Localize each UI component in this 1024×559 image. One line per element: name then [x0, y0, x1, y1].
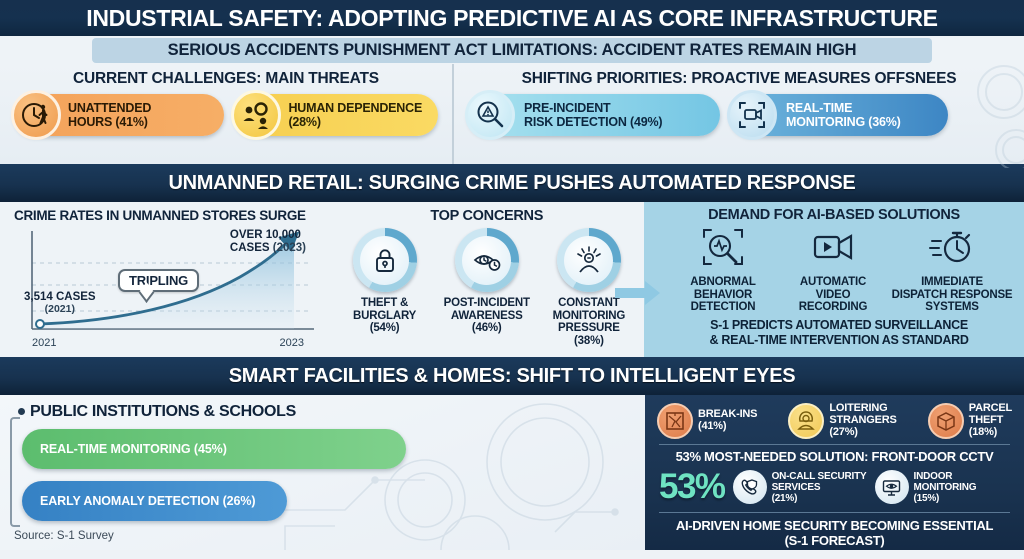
- demand2-l1: AUTOMATIC: [778, 276, 888, 289]
- concern1-l2: BURGLARY: [337, 310, 433, 323]
- demand2-l3: RECORDING: [778, 301, 888, 314]
- demand1-l2: BEHAVIOR: [668, 289, 778, 302]
- demand2-label: AUTOMATIC VIDEO RECORDING: [778, 276, 888, 314]
- sub-solution-indoor-monitoring[interactable]: INDOOR MONITORING (15%): [875, 470, 977, 504]
- priority1-line2: RISK DETECTION (49%): [524, 115, 662, 129]
- threat-label-line1: UNATTENDED: [68, 101, 151, 115]
- demand-foot-line1: S-1 PREDICTS AUTOMATED SURVEILLANCE: [660, 318, 1018, 333]
- public-institutions-heading-text: PUBLIC INSTITUTIONS & SCHOOLS: [30, 403, 296, 420]
- infographic-page: INDUSTRIAL SAFETY: ADOPTING PREDICTIVE A…: [0, 0, 1024, 559]
- sub2-l2: MONITORING: [914, 482, 977, 493]
- broken-window-icon: [657, 403, 693, 439]
- lock-icon: [360, 236, 409, 285]
- divider: [659, 444, 1010, 445]
- eye-clock-icon: [462, 236, 511, 285]
- priority1-label: PRE-INCIDENT RISK DETECTION (49%): [524, 101, 662, 129]
- bar-blue-label: EARLY ANOMALY DETECTION (26%): [40, 494, 255, 508]
- demand1-label: ABNORMAL BEHAVIOR DETECTION: [668, 276, 778, 314]
- challenges-column: CURRENT CHALLENGES: MAIN THREATS UNATTEN…: [0, 64, 452, 164]
- concern2-l1: POST-INCIDENT: [439, 297, 535, 310]
- sub1-l2: SERVICES: [772, 482, 867, 493]
- concern1-l3: (54%): [337, 322, 433, 335]
- threat-human-dependence-label: HUMAN DEPENDENCE (28%): [288, 101, 422, 129]
- concern-awareness-label: POST-INCIDENT AWARENESS (46%): [439, 297, 535, 335]
- demand-automatic-video-recording[interactable]: AUTOMATIC VIDEO RECORDING: [778, 225, 888, 314]
- demand1-l3: DETECTION: [668, 301, 778, 314]
- demand-foot-line2: & REAL-TIME INTERVENTION AS STANDARD: [660, 333, 1018, 348]
- crime-rate-chart-panel: CRIME RATES IN UNMANNED STORES SURGE: [0, 202, 330, 357]
- home-threat1-label: BREAK-INS (41%): [698, 409, 757, 433]
- priority-pre-incident-risk-detection[interactable]: PRE-INCIDENT RISK DETECTION (49%): [468, 94, 720, 136]
- concern-post-incident-awareness[interactable]: POST-INCIDENT AWARENESS (46%): [439, 228, 535, 348]
- home-security-panel: BREAK-INS (41%) LOITERING STRA: [645, 395, 1024, 550]
- concern-theft-label: THEFT & BURGLARY (54%): [337, 297, 433, 335]
- top-concerns-panel: TOP CONCERNS T: [330, 202, 645, 357]
- chart-tick-left: 2021: [32, 337, 56, 349]
- threat-label-line2: HOURS (41%): [68, 115, 151, 129]
- hooded-person-icon: [788, 403, 824, 439]
- threat2-label-line1: HUMAN DEPENDENCE: [288, 101, 422, 115]
- priority2-label: REAL-TIME MONITORING (36%): [786, 101, 901, 129]
- demand3-l3: SYSTEMS: [888, 301, 1016, 314]
- chart-end-label: OVER 10,000 CASES (2023): [230, 229, 306, 255]
- concern-theft-burglary[interactable]: THEFT & BURGLARY (54%): [337, 228, 433, 348]
- page-title-text: INDUSTRIAL SAFETY: ADOPTING PREDICTIVE A…: [86, 5, 937, 32]
- chart-start-main: 3,514 CASES: [24, 291, 96, 303]
- section-challenges: CURRENT CHALLENGES: MAIN THREATS UNATTEN…: [0, 64, 1024, 164]
- bar-real-time-monitoring[interactable]: REAL-TIME MONITORING (45%): [22, 429, 406, 469]
- section-unmanned-retail: CRIME RATES IN UNMANNED STORES SURGE: [0, 202, 1024, 357]
- chart-start-label: 3,514 CASES (2021): [24, 291, 96, 315]
- source-note: Source: S-1 Survey: [14, 530, 114, 542]
- demand-footer: S-1 PREDICTS AUTOMATED SURVEILLANCE & RE…: [644, 314, 1024, 348]
- people-gear-icon: [231, 90, 281, 140]
- sub-solution1-label: ON-CALL SECURITY SERVICES (21%): [772, 471, 867, 504]
- demand3-label: IMMEDIATE DISPATCH RESPONSE SYSTEMS: [888, 276, 1016, 314]
- concern1-l1: THEFT &: [337, 297, 433, 310]
- bracket-decoration: [10, 417, 20, 527]
- bar-early-anomaly-detection[interactable]: EARLY ANOMALY DETECTION (26%): [22, 481, 287, 521]
- sub-solution2-label: INDOOR MONITORING (15%): [914, 471, 977, 504]
- chart-end-sub: CASES (2023): [230, 242, 306, 255]
- concern-constant-monitoring[interactable]: CONSTANT MONITORING PRESSURE (38%): [541, 228, 637, 348]
- threat-human-dependence[interactable]: HUMAN DEPENDENCE (28%): [234, 94, 438, 136]
- parcel-box-icon: [928, 403, 964, 439]
- demand-ai-panel: DEMAND FOR AI-BASED SOLUTIONS ABNORMAL: [644, 202, 1024, 357]
- chart-end-sub-text: CASES: [230, 242, 270, 254]
- priorities-column: SHIFTING PRIORITIES: PROACTIVE MEASURES …: [452, 64, 1024, 164]
- home-threat-break-ins[interactable]: BREAK-INS (41%): [657, 403, 757, 439]
- crime-rate-chart: 3,514 CASES (2021) OVER 10,000 CASES (20…: [10, 225, 322, 351]
- chart-title: CRIME RATES IN UNMANNED STORES SURGE: [10, 208, 324, 223]
- sub2-l1: INDOOR: [914, 471, 977, 482]
- concern2-l2: AWARENESS: [439, 310, 535, 323]
- section-band-smart-text: SMART FACILITIES & HOMES: SHIFT TO INTEL…: [229, 365, 796, 388]
- concern3-l3: PRESSURE: [541, 322, 637, 335]
- scan-pulse-magnifier-icon: [698, 225, 748, 269]
- monitor-eye-icon: [875, 470, 909, 504]
- video-camera-icon: [808, 225, 858, 269]
- threat-unattended-hours-label: UNATTENDED HOURS (41%): [68, 101, 151, 129]
- priority-real-time-monitoring[interactable]: REAL-TIME MONITORING (36%): [730, 94, 948, 136]
- home-threat3-label: PARCEL THEFT (18%): [969, 403, 1012, 439]
- stopwatch-icon: [927, 225, 977, 269]
- sub1-l3: (21%): [772, 493, 867, 504]
- priority1-line1: PRE-INCIDENT: [524, 101, 662, 115]
- bar-green-label: REAL-TIME MONITORING (45%): [40, 442, 227, 456]
- gears-decoration-icon: [225, 400, 645, 550]
- section-band-retail: UNMANNED RETAIL: SURGING CRIME PUSHES AU…: [0, 164, 1024, 202]
- demand-immediate-dispatch[interactable]: IMMEDIATE DISPATCH RESPONSE SYSTEMS: [888, 225, 1016, 314]
- threat2-l3: (27%): [829, 427, 896, 439]
- chart-tick-right: 2023: [280, 337, 304, 349]
- subtitle-strip: SERIOUS ACCIDENTS PUNISHMENT ACT LIMITAT…: [92, 38, 932, 63]
- solution-stats-row: 53% ON-CALL SECURITY SERVICES (21%): [653, 464, 1016, 507]
- section-smart-facilities: PUBLIC INSTITUTIONS & SCHOOLS REAL-TIME …: [0, 395, 1024, 550]
- top-concerns-row: THEFT & BURGLARY (54%): [330, 224, 645, 348]
- threat2-label-line2: (28%): [288, 115, 422, 129]
- chart-end-year: (2023): [273, 242, 306, 254]
- demand1-l1: ABNORMAL: [668, 276, 778, 289]
- chart-end-main: OVER 10,000: [230, 229, 306, 242]
- foot-line1: AI-DRIVEN HOME SECURITY BECOMING ESSENTI…: [653, 519, 1016, 534]
- demand3-l2: DISPATCH RESPONSE: [888, 289, 1016, 302]
- concern-donut: [353, 228, 417, 292]
- priorities-heading: SHIFTING PRIORITIES: PROACTIVE MEASURES …: [454, 64, 1024, 88]
- home-threat-loitering-strangers[interactable]: LOITERING STRANGERS (27%): [788, 403, 896, 439]
- subtitle-strip-wrap: SERIOUS ACCIDENTS PUNISHMENT ACT LIMITAT…: [0, 36, 1024, 64]
- demand-heading: DEMAND FOR AI-BASED SOLUTIONS: [644, 207, 1024, 223]
- section-band-retail-text: UNMANNED RETAIL: SURGING CRIME PUSHES AU…: [169, 172, 856, 195]
- chart-start-sub: (2021): [24, 303, 96, 315]
- flow-arrow-icon: [615, 280, 661, 306]
- public-institutions-heading: PUBLIC INSTITUTIONS & SCHOOLS: [0, 395, 645, 421]
- home-security-footer: AI-DRIVEN HOME SECURITY BECOMING ESSENTI…: [653, 517, 1016, 549]
- priority2-line1: REAL-TIME: [786, 101, 901, 115]
- big-percentage: 53%: [659, 467, 725, 507]
- concern-donut: [557, 228, 621, 292]
- top-concerns-heading: TOP CONCERNS: [330, 208, 645, 224]
- chart-callout-tripling: TRIPLING: [118, 269, 199, 292]
- concern3-l2: MONITORING: [541, 310, 637, 323]
- priorities-pill-row: PRE-INCIDENT RISK DETECTION (49%): [454, 88, 1024, 136]
- threat3-l3: (18%): [969, 427, 1012, 439]
- priority2-line2: MONITORING (36%): [786, 115, 901, 129]
- bullet-dot-icon: [18, 408, 25, 415]
- home-threats-row: BREAK-INS (41%) LOITERING STRA: [653, 401, 1016, 439]
- solution-headline: 53% MOST-NEEDED SOLUTION: FRONT-DOOR CCT…: [653, 449, 1016, 464]
- page-title: INDUSTRIAL SAFETY: ADOPTING PREDICTIVE A…: [0, 0, 1024, 36]
- section-band-smart-facilities: SMART FACILITIES & HOMES: SHIFT TO INTEL…: [0, 357, 1024, 395]
- clock-walker-icon: [11, 90, 61, 140]
- concern3-l4: (38%): [541, 335, 637, 348]
- sub-solution-on-call-security[interactable]: ON-CALL SECURITY SERVICES (21%): [733, 470, 867, 504]
- demand-row: ABNORMAL BEHAVIOR DETECTION AUTOMATIC VI…: [644, 223, 1024, 314]
- divider-bottom: [659, 512, 1010, 513]
- sub2-l3: (15%): [914, 493, 977, 504]
- challenges-heading: CURRENT CHALLENGES: MAIN THREATS: [0, 64, 452, 88]
- home-threat-parcel-theft[interactable]: PARCEL THEFT (18%): [928, 403, 1012, 439]
- scan-camera-icon: [727, 90, 777, 140]
- concern-donut: [455, 228, 519, 292]
- magnifier-warning-icon: [465, 90, 515, 140]
- foot-line2: (S-1 FORECAST): [653, 534, 1016, 549]
- concern2-l3: (46%): [439, 322, 535, 335]
- demand3-l1: IMMEDIATE: [888, 276, 1016, 289]
- home-threat2-label: LOITERING STRANGERS (27%): [829, 403, 896, 439]
- phone-shield-icon: [733, 470, 767, 504]
- demand-abnormal-behavior-detection[interactable]: ABNORMAL BEHAVIOR DETECTION: [668, 225, 778, 314]
- public-institutions-panel: PUBLIC INSTITUTIONS & SCHOOLS REAL-TIME …: [0, 395, 645, 550]
- threat1-l2: (41%): [698, 421, 757, 433]
- threat-unattended-hours[interactable]: UNATTENDED HOURS (41%): [14, 94, 224, 136]
- subtitle-text: SERIOUS ACCIDENTS PUNISHMENT ACT LIMITAT…: [168, 41, 857, 60]
- sub1-l1: ON-CALL SECURITY: [772, 471, 867, 482]
- stressed-head-icon: [564, 236, 613, 285]
- demand2-l2: VIDEO: [778, 289, 888, 302]
- challenges-pill-row: UNATTENDED HOURS (41%): [0, 88, 452, 136]
